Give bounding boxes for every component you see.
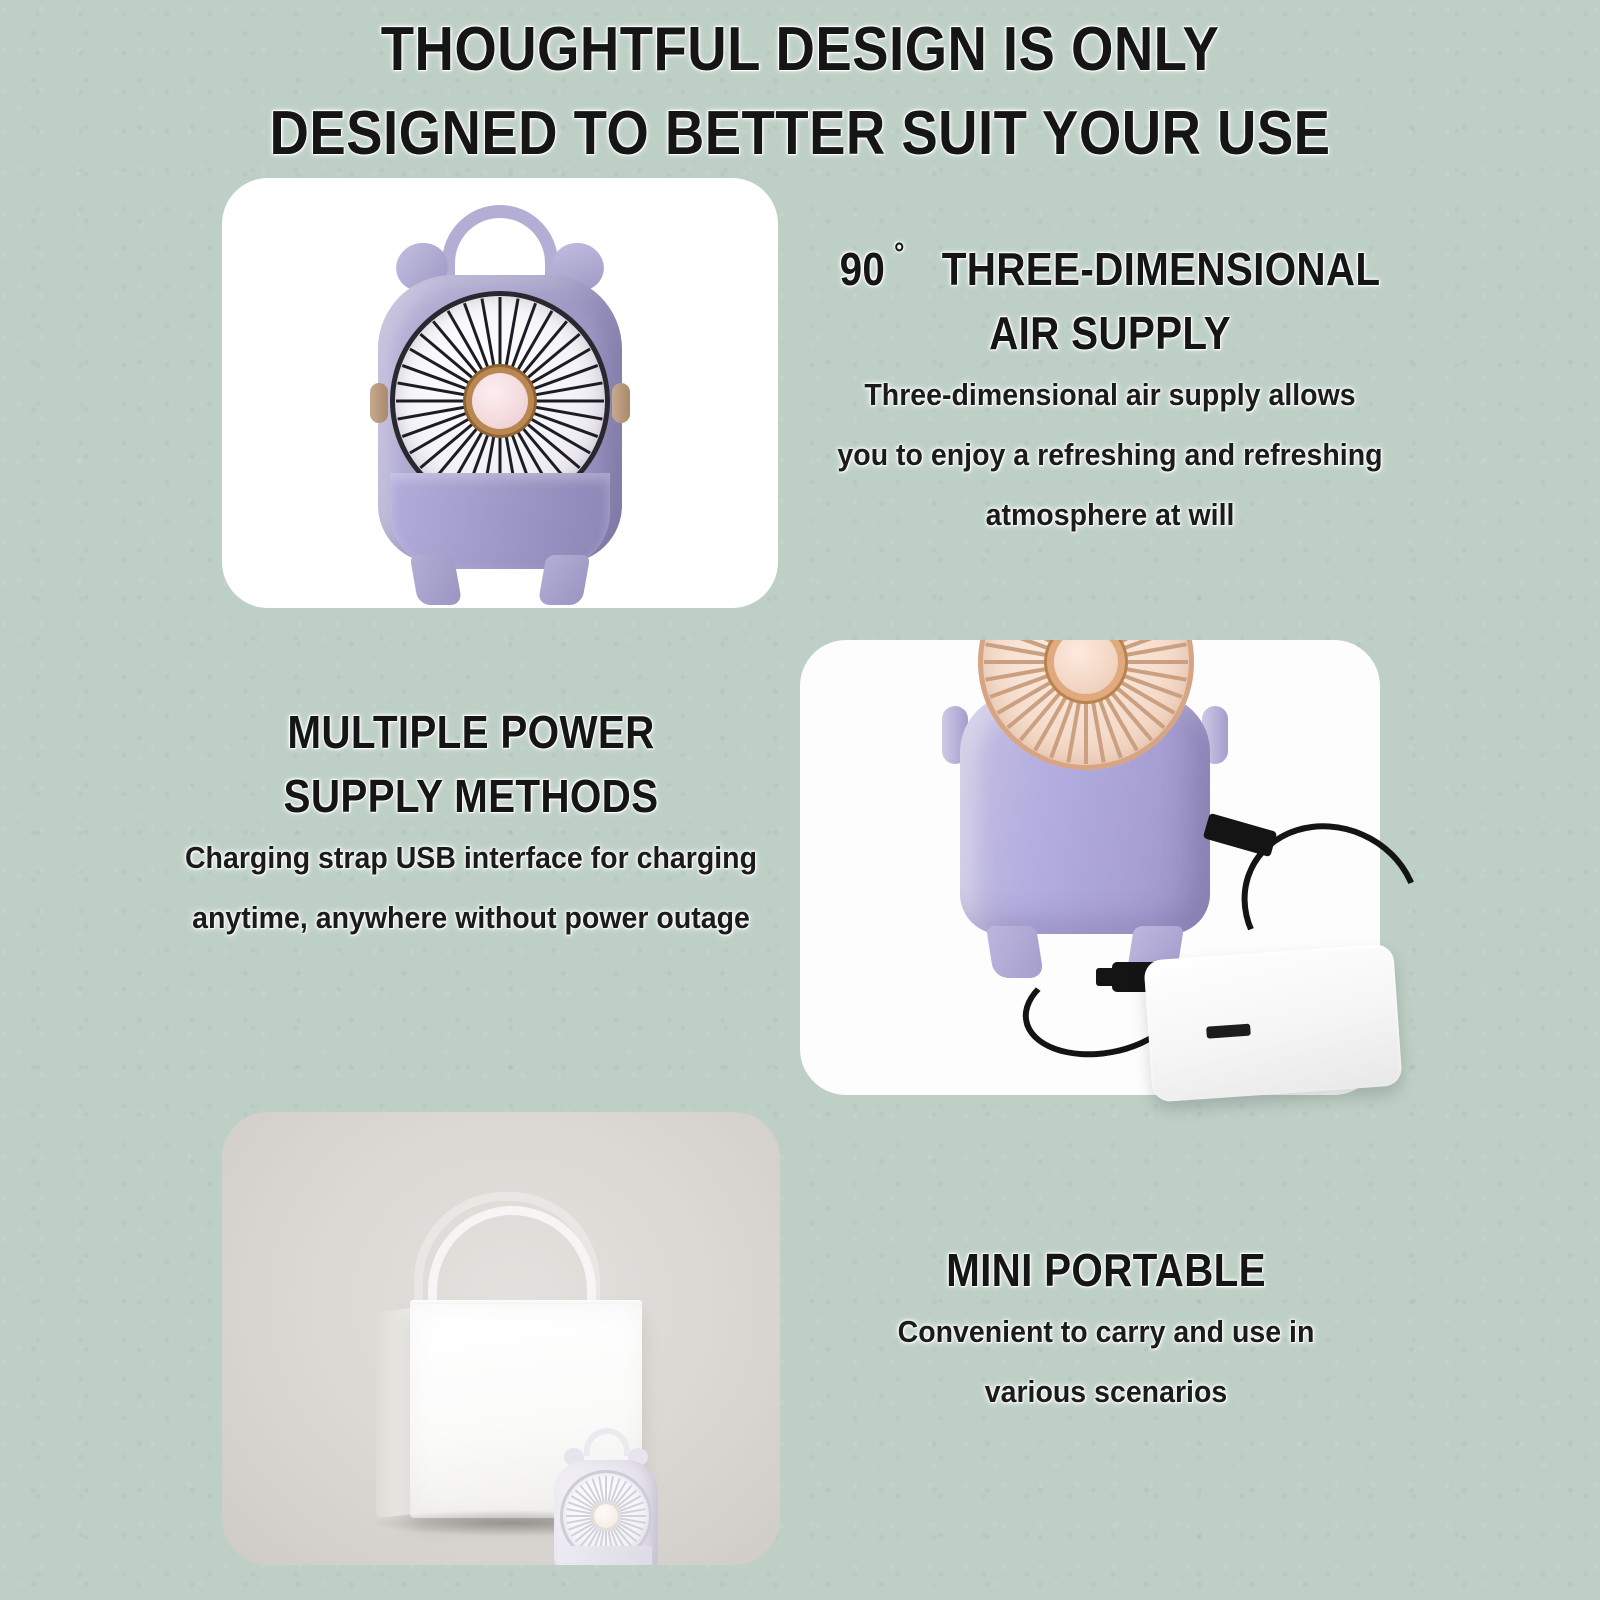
- tote-bag-illustration: [362, 1192, 652, 1522]
- feature-power-supply-text: MULTIPLE POWER SUPPLY METHODS Charging s…: [146, 700, 796, 948]
- air-supply-body-line-3: atmosphere at will: [816, 485, 1405, 545]
- micro-usb-port: [1206, 1024, 1251, 1039]
- fan-center-hub: [594, 1504, 618, 1528]
- fan-leg-left: [986, 926, 1044, 978]
- power-bank: [1143, 943, 1402, 1102]
- air-supply-body-line-1: Three-dimensional air supply allows: [816, 365, 1405, 425]
- power-supply-body-line-1: Charging strap USB interface for chargin…: [172, 828, 770, 888]
- headline-line-1: THOUGHTFUL DESIGN IS ONLY: [96, 8, 1504, 92]
- product-image-tote-bag: [222, 1112, 780, 1565]
- portable-body-line-1: Convenient to carry and use in: [848, 1302, 1363, 1362]
- fan-side-knob-left: [370, 383, 388, 423]
- air-supply-body-line-2: you to enjoy a refreshing and refreshing: [816, 425, 1405, 485]
- fan-handle: [442, 205, 558, 281]
- tote-side-panel: [376, 1308, 414, 1519]
- power-supply-heading-line-2: SUPPLY METHODS: [185, 764, 757, 828]
- air-supply-heading-line-2: AIR SUPPLY: [828, 301, 1391, 365]
- fan-handle: [584, 1428, 630, 1456]
- feature-portable-text: MINI PORTABLE Convenient to carry and us…: [826, 1238, 1386, 1422]
- headline-line-2: DESIGNED TO BETTER SUIT YOUR USE: [96, 92, 1504, 176]
- air-supply-heading-line-1: 90°THREE-DIMENSIONAL: [828, 222, 1391, 301]
- product-image-fan-front: [222, 178, 778, 608]
- fan-leg-right: [538, 555, 591, 605]
- fan-illustration-front: [350, 187, 650, 608]
- fan-lower-shell: [560, 1546, 652, 1565]
- portable-heading: MINI PORTABLE: [860, 1238, 1353, 1302]
- feature-air-supply-text: 90°THREE-DIMENSIONAL AIR SUPPLY Three-di…: [790, 222, 1430, 545]
- air-supply-heading-main: THREE-DIMENSIONAL: [942, 243, 1381, 295]
- fan-legs: [408, 555, 592, 608]
- fan-illustration-small: [544, 1428, 668, 1565]
- fan-center-hub: [472, 373, 528, 429]
- fan-side-knob-right: [612, 383, 630, 423]
- fan-leg-left: [410, 555, 463, 605]
- fan-illustration-closeup: [920, 640, 1250, 974]
- angle-value: 90: [840, 243, 886, 295]
- degree-symbol: °: [894, 237, 905, 270]
- page-headline: THOUGHTFUL DESIGN IS ONLY DESIGNED TO BE…: [0, 8, 1600, 176]
- power-supply-body-line-2: anytime, anywhere without power outage: [172, 888, 770, 948]
- portable-body-line-2: various scenarios: [848, 1362, 1363, 1422]
- power-supply-heading-line-1: MULTIPLE POWER: [185, 700, 757, 764]
